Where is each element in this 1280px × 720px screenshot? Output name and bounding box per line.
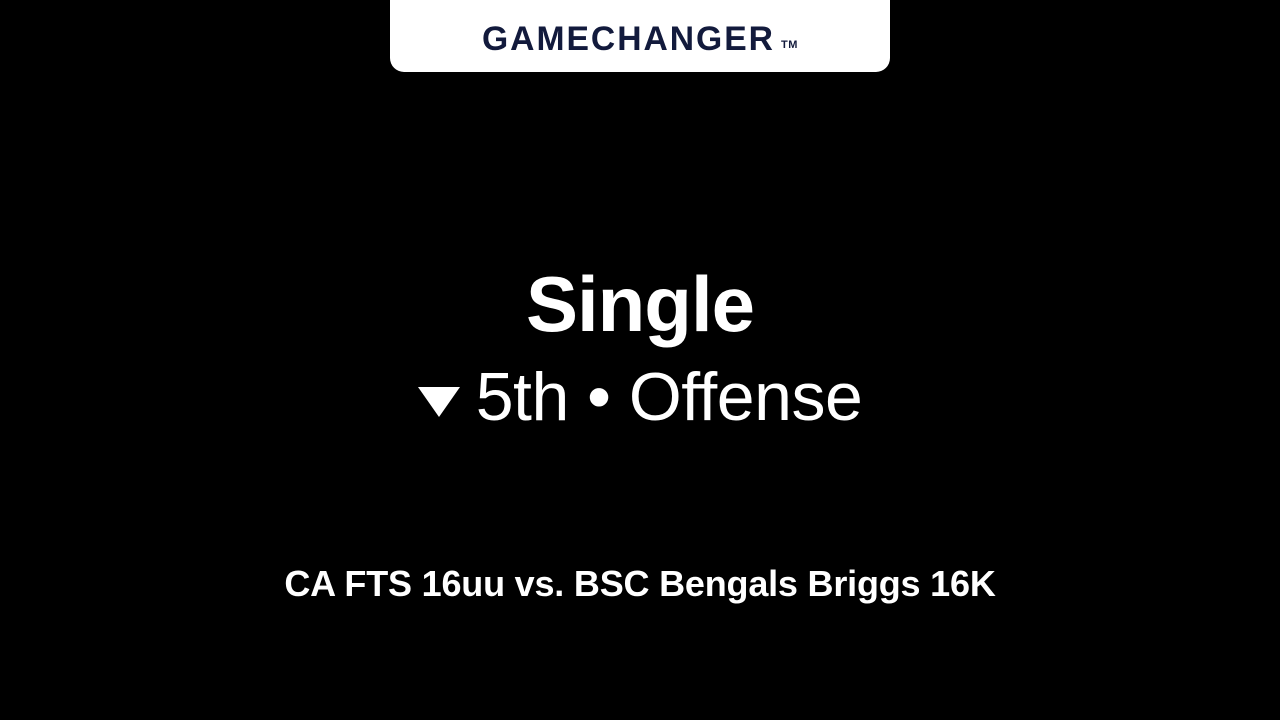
triangle-down-icon [418, 387, 460, 417]
gamechanger-logo-badge: GAMECHANGER TM [390, 0, 890, 72]
inning-and-side-label: 5th • Offense [476, 360, 863, 435]
logo-lockup: GAMECHANGER TM [482, 22, 798, 56]
play-context-row: 5th • Offense [0, 360, 1280, 435]
matchup-label: CA FTS 16uu vs. BSC Bengals Briggs 16K [0, 562, 1280, 605]
play-result-title: Single [0, 262, 1280, 346]
gamechanger-wordmark: GAMECHANGER [482, 22, 775, 56]
video-overlay-screen: GAMECHANGER TM Single 5th • Offense CA F… [0, 0, 1280, 720]
trademark-symbol: TM [781, 40, 798, 51]
play-summary: Single 5th • Offense [0, 262, 1280, 435]
